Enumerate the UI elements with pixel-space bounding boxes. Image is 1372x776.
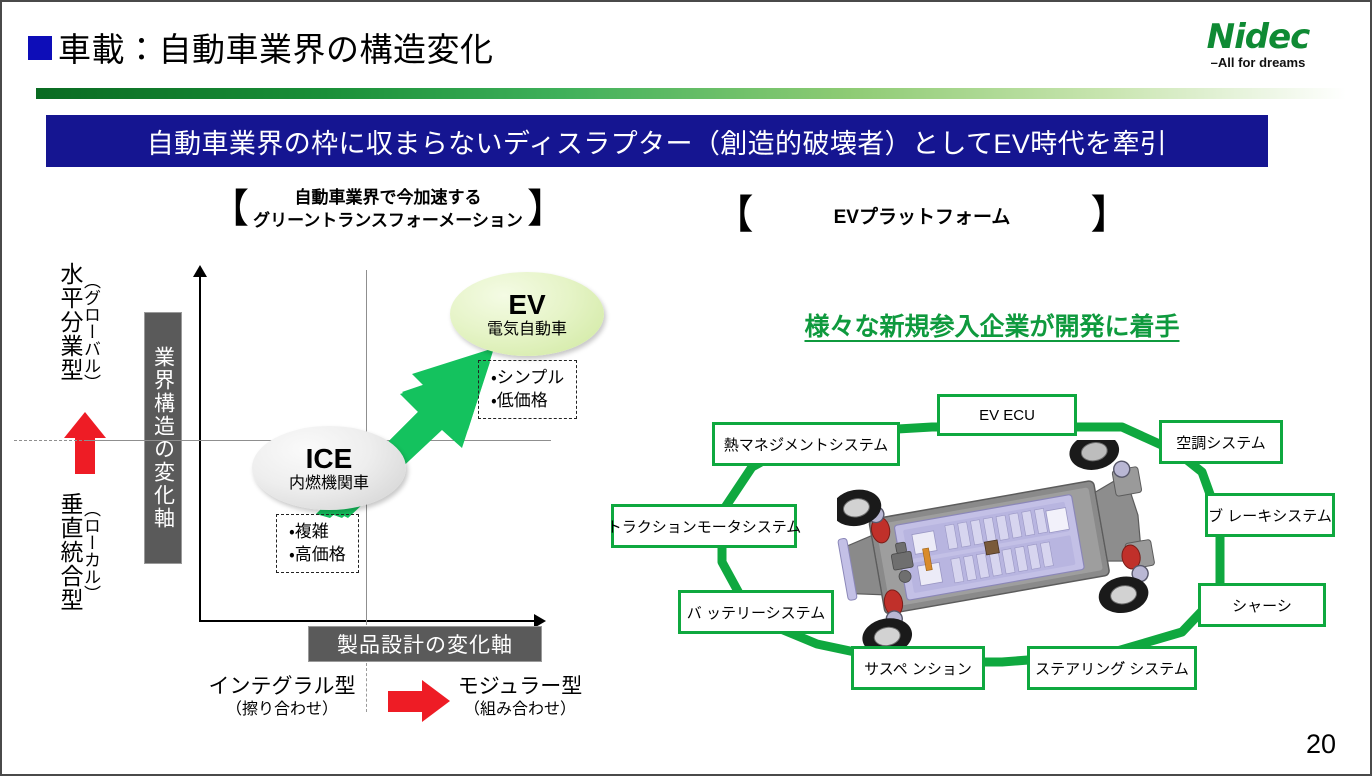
red-up-arrow-icon bbox=[64, 412, 106, 474]
bubble-ev-notes: ・シンプル ・低価格 bbox=[478, 360, 577, 419]
page-title: 車載：自動車業界の構造変化 bbox=[58, 23, 494, 71]
x-axis-left-label: インテグラル型 （擦り合わせ） bbox=[182, 674, 382, 720]
y-axis-line bbox=[199, 274, 201, 622]
platform-box-suspension-label: サスペ ンション bbox=[864, 658, 972, 679]
bubble-ice: ICE 内燃機関車 bbox=[252, 426, 406, 510]
platform-box-chassis-label: シャーシ bbox=[1232, 595, 1292, 616]
headline-banner: 自動車業界の枠に収まらないディスラプター（創造的破壊者）としてEV時代を牽引 bbox=[46, 115, 1268, 167]
platform-box-suspension[interactable]: サスペ ンション bbox=[851, 646, 985, 690]
quadrant-chart: 水平分業型 （グローバル） 垂直統合型 （ローカル） 業界構造の変化軸 bbox=[26, 260, 626, 660]
y-axis-bottom-label: 垂直統合型 （ローカル） bbox=[58, 492, 99, 612]
y-axis-arrowhead-icon bbox=[193, 265, 207, 277]
headline-banner-text: 自動車業界の枠に収まらないディスラプター（創造的破壊者）としてEV時代を牽引 bbox=[147, 122, 1168, 161]
header-gradient-divider bbox=[36, 88, 1346, 99]
x-axis-right-label: モジュラー型 （組み合わせ） bbox=[420, 674, 620, 720]
logo-wordmark: Nidec bbox=[1178, 20, 1338, 54]
left-section-heading: 【 自動車業界で今加速する グリーントランスフォーメーション 】 bbox=[198, 186, 578, 232]
x-axis-title: 製品設計の変化軸 bbox=[337, 629, 513, 659]
right-section-heading: 【 EVプラットフォーム 】 bbox=[642, 197, 1202, 233]
platform-box-steering-label: ステアリング゙ システム bbox=[1035, 658, 1189, 679]
y-axis-bottom-label-main: 垂直統合型 bbox=[58, 492, 81, 612]
y-axis-title: 業界構造の変化軸 bbox=[153, 346, 174, 530]
platform-box-brake-label: ブ レーキシステム bbox=[1208, 505, 1332, 526]
x-axis-left-label-main: インテグラル型 bbox=[182, 674, 382, 700]
platform-box-chassis[interactable]: シャーシ bbox=[1198, 583, 1326, 627]
left-heading-line2: グリーントランスフォーメーション bbox=[253, 211, 523, 230]
platform-heading: 様々な新規参入企業が開発に着手 bbox=[692, 307, 1292, 343]
platform-box-thermal[interactable]: 熱マネジ゙メントシステム bbox=[712, 422, 900, 466]
bubble-ice-note-1: ・複雑 bbox=[289, 520, 346, 543]
y-axis-top-label: 水平分業型 （グローバル） bbox=[58, 262, 99, 391]
x-axis-right-label-main: モジュラー型 bbox=[420, 674, 620, 700]
y-axis-bottom-label-sub: （ローカル） bbox=[82, 492, 99, 612]
platform-box-brake[interactable]: ブ レーキシステム bbox=[1205, 493, 1335, 537]
bracket-close-icon: 】 bbox=[527, 191, 567, 227]
platform-box-steering[interactable]: ステアリング゙ システム bbox=[1027, 646, 1197, 690]
quadrant-horizontal-divider-dashed bbox=[14, 440, 92, 441]
platform-box-thermal-label: 熱マネジ゙メントシステム bbox=[724, 434, 889, 455]
right-section-heading-text: EVプラットフォーム bbox=[754, 202, 1091, 229]
bracket-close-icon: 】 bbox=[1090, 197, 1130, 233]
x-axis-left-label-sub: （擦り合わせ） bbox=[182, 700, 382, 720]
x-axis-line bbox=[199, 620, 539, 622]
slide-canvas: 車載：自動車業界の構造変化 Nidec –All for dreams 自動車業… bbox=[0, 0, 1372, 776]
left-heading-line1: 自動車業界で今加速する bbox=[294, 188, 481, 207]
bracket-open-icon: 【 bbox=[209, 191, 249, 227]
bubble-ice-notes: ・複雑 ・高価格 bbox=[276, 514, 359, 573]
title-bullet-icon bbox=[28, 36, 52, 60]
y-axis-top-label-main: 水平分業型 bbox=[58, 262, 81, 391]
bubble-ice-note-2: ・高価格 bbox=[289, 543, 346, 566]
x-axis-title-box: 製品設計の変化軸 bbox=[308, 626, 542, 662]
bubble-ev-title: EV bbox=[508, 290, 545, 320]
bubble-ev-note-1: ・シンプル bbox=[491, 366, 564, 389]
y-axis-title-box: 業界構造の変化軸 bbox=[144, 312, 182, 564]
bubble-ev-note-2: ・低価格 bbox=[491, 389, 564, 412]
page-number: 20 bbox=[1306, 729, 1336, 760]
platform-box-traction[interactable]: トラクションモータシステム bbox=[611, 504, 797, 548]
y-axis-top-label-sub: （グローバル） bbox=[82, 262, 99, 391]
bubble-ev-subtitle: 電気自動車 bbox=[487, 320, 567, 339]
platform-box-battery[interactable]: バ ッテリーシステム bbox=[678, 590, 834, 634]
bracket-open-icon: 【 bbox=[714, 197, 754, 233]
bubble-ice-title: ICE bbox=[306, 444, 353, 474]
bubble-ice-subtitle: 内燃機関車 bbox=[289, 474, 369, 493]
platform-box-ev-ecu-label: EV ECU bbox=[979, 407, 1035, 424]
platform-box-ev-ecu[interactable]: EV ECU bbox=[937, 394, 1077, 436]
left-section-heading-text: 自動車業界で今加速する グリーントランスフォーメーション bbox=[249, 186, 527, 232]
bubble-ev: EV 電気自動車 bbox=[450, 272, 604, 356]
x-axis-right-label-sub: （組み合わせ） bbox=[420, 700, 620, 720]
platform-box-hvac[interactable]: 空調システム bbox=[1159, 420, 1283, 464]
platform-box-traction-label: トラクションモータシステム bbox=[607, 516, 802, 537]
platform-box-battery-label: バ ッテリーシステム bbox=[687, 602, 825, 623]
platform-box-hvac-label: 空調システム bbox=[1176, 432, 1266, 453]
nidec-logo: Nidec –All for dreams bbox=[1178, 20, 1338, 76]
logo-tagline: –All for dreams bbox=[1178, 55, 1338, 70]
